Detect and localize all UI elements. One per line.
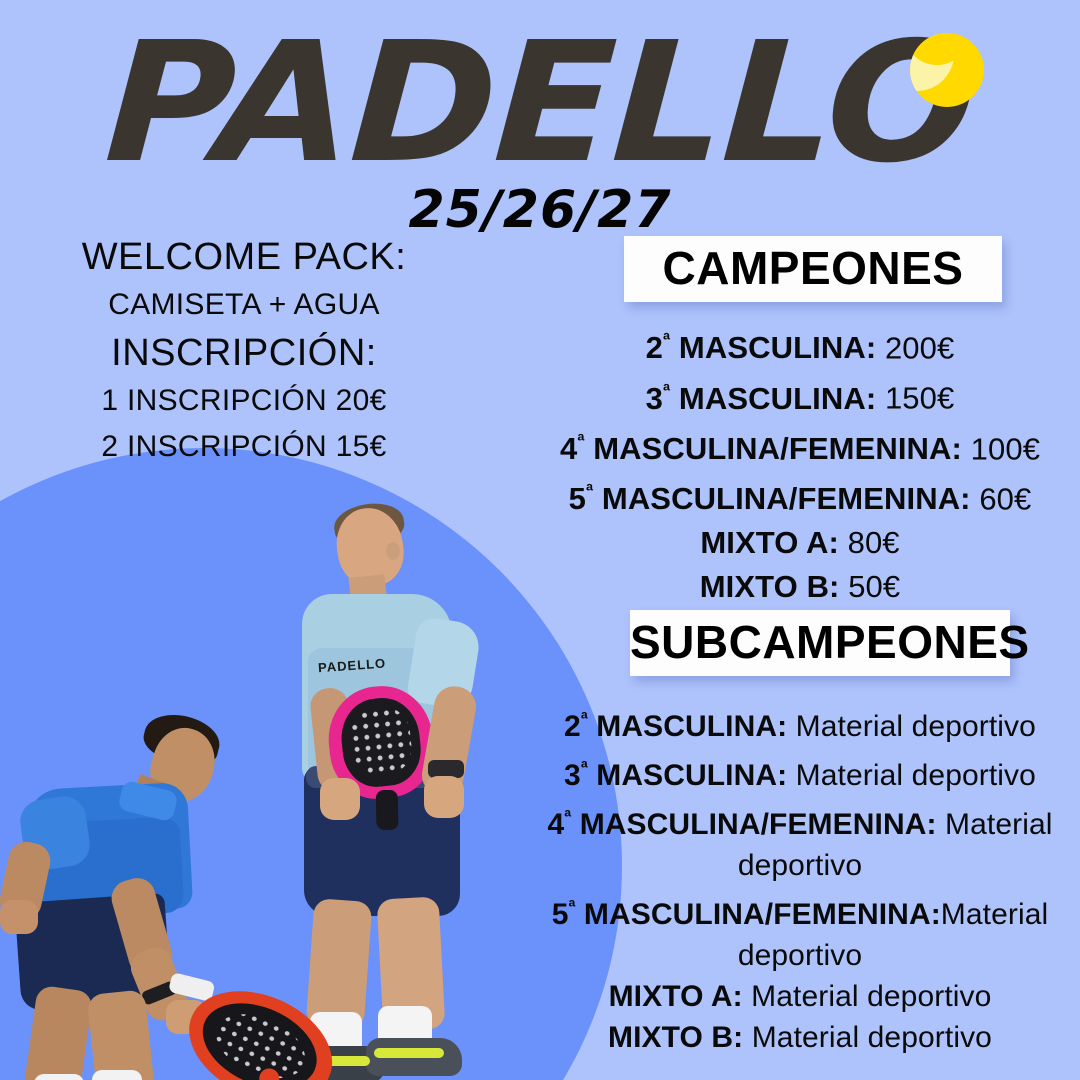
ear: [386, 542, 400, 560]
prize-value: 100€: [962, 431, 1040, 466]
prize-value: 50€: [839, 569, 900, 604]
prize-value: Material deportivo: [787, 759, 1036, 792]
right-hand: [424, 776, 464, 818]
prize-category: MIXTO A:: [700, 525, 839, 560]
campeones-prize-list: 2ª MASCULINA: 200€3ª MASCULINA: 150€4ª M…: [520, 320, 1080, 609]
prize-value: Material deportivo: [743, 1021, 992, 1054]
prize-value: Material deportivo: [743, 980, 992, 1013]
prize-value: 80€: [839, 525, 900, 560]
subcampeones-banner: SUBCAMPEONES: [630, 610, 1010, 676]
left-hand: [0, 900, 38, 934]
campeones-section: CAMPEONES 2ª MASCULINA: 200€3ª MASCULINA…: [520, 236, 1080, 609]
players-photo: PADELLO PADEL: [0, 470, 560, 1080]
prize-category: 5ª MASCULINA/FEMENINA:: [569, 481, 971, 516]
prize-row: 2ª MASCULINA: Material deportivo: [520, 698, 1080, 747]
subcampeones-prize-list: 2ª MASCULINA: Material deportivo3ª MASCU…: [520, 698, 1080, 1058]
padel-ball-icon: [910, 33, 984, 107]
racket-grip: [376, 790, 399, 830]
racket-holes: [348, 705, 415, 777]
player-left: [0, 702, 330, 1080]
prize-value: 150€: [876, 381, 954, 416]
subcampeones-heading: SUBCAMPEONES: [630, 616, 1030, 668]
welcome-pack-block: WELCOME PACK: CAMISETA + AGUA INSCRIPCIÓ…: [24, 232, 464, 470]
prize-category: 4ª MASCULINA/FEMENINA:: [560, 431, 962, 466]
inscription-price-1: 1 INSCRIPCIÓN 20€: [24, 378, 464, 424]
prize-category: MIXTO B:: [700, 569, 840, 604]
prize-row: MIXTO A: Material deportivo: [520, 976, 1080, 1017]
prize-category: 2ª MASCULINA:: [646, 330, 877, 365]
prize-category: 5ª MASCULINA/FEMENINA:: [552, 898, 941, 931]
welcome-pack-contents: CAMISETA + AGUA: [24, 282, 464, 328]
inscription-heading: INSCRIPCIÓN:: [24, 328, 464, 378]
prize-row: MIXTO B: 50€: [520, 565, 1080, 609]
welcome-pack-heading: WELCOME PACK:: [24, 232, 464, 282]
prize-category: MIXTO B:: [608, 1021, 743, 1054]
prize-category: 2ª MASCULINA:: [564, 710, 787, 743]
prize-row: 4ª MASCULINA/FEMENINA: 100€: [520, 421, 1080, 471]
left-sock: [34, 1074, 84, 1080]
campeones-banner: CAMPEONES: [624, 236, 1002, 302]
right-shoe-accent: [374, 1048, 444, 1058]
prize-row: 3ª MASCULINA: 150€: [520, 370, 1080, 420]
prize-category: 4ª MASCULINA/FEMENINA:: [547, 808, 936, 841]
prize-row: 2ª MASCULINA: 200€: [520, 320, 1080, 370]
prize-row: MIXTO B: Material deportivo: [520, 1017, 1080, 1058]
prize-category: 3ª MASCULINA:: [646, 381, 877, 416]
right-leg: [87, 989, 156, 1080]
prize-row: MIXTO A: 80€: [520, 521, 1080, 565]
poster-canvas: PADELLO 25/26/27 WELCOME PACK: CAMISETA …: [0, 0, 1080, 1080]
prize-category: 3ª MASCULINA:: [564, 759, 787, 792]
prize-row: 5ª MASCULINA/FEMENINA: 60€: [520, 471, 1080, 521]
inscription-price-2: 2 INSCRIPCIÓN 15€: [24, 424, 464, 470]
prize-value: 200€: [876, 330, 954, 365]
prize-value: 60€: [971, 481, 1032, 516]
campeones-heading: CAMPEONES: [663, 242, 964, 294]
prize-category: MIXTO A:: [609, 980, 743, 1013]
page-title: PADELLO: [102, 24, 979, 184]
prize-row: 4ª MASCULINA/FEMENINA: Material deportiv…: [520, 796, 1080, 886]
subcampeones-section: SUBCAMPEONES 2ª MASCULINA: Material depo…: [520, 610, 1080, 1058]
prize-row: 5ª MASCULINA/FEMENINA:Material deportivo: [520, 886, 1080, 976]
prize-row: 3ª MASCULINA: Material deportivo: [520, 747, 1080, 796]
tournament-dates: 25/26/27: [0, 182, 1080, 238]
right-sock: [92, 1070, 142, 1080]
prize-value: Material deportivo: [787, 710, 1036, 743]
